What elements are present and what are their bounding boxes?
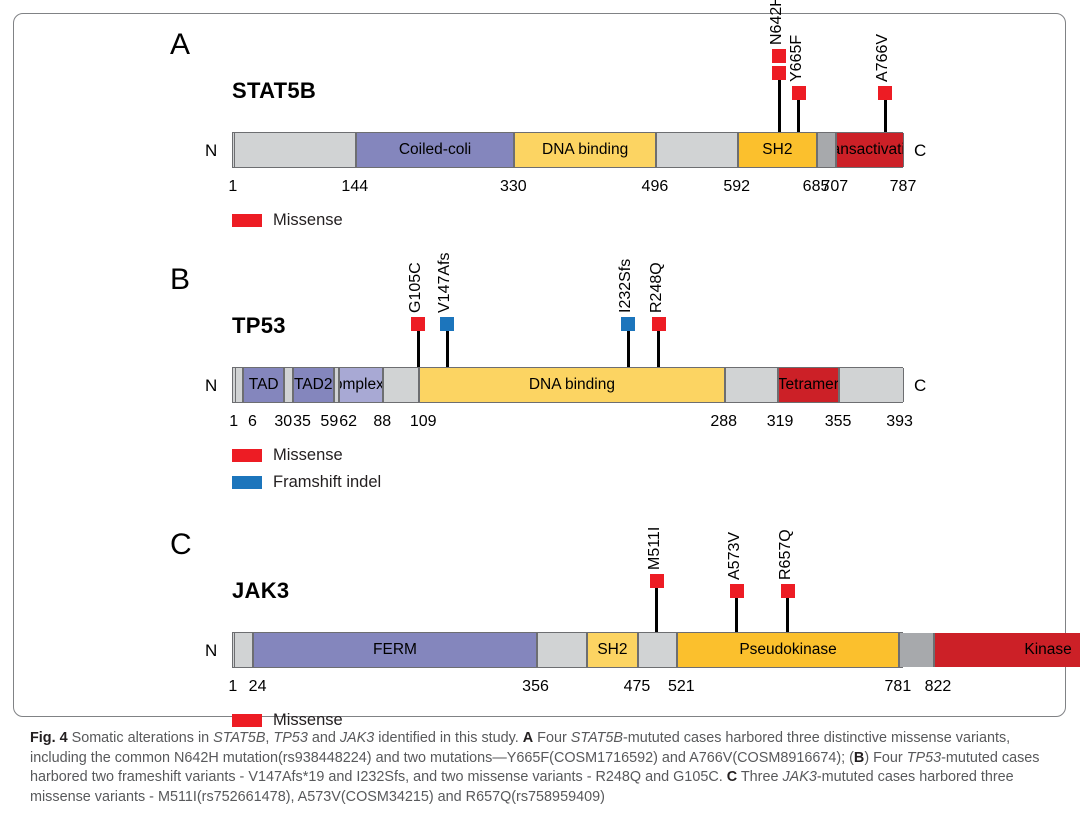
mutation-label: G105C xyxy=(408,262,424,313)
position-tick-label: 356 xyxy=(522,679,549,695)
position-tick-label: 355 xyxy=(825,414,852,430)
domain-block: Tetramer xyxy=(778,368,839,402)
domain-label: TAD2 xyxy=(294,376,332,394)
lollipop-stem xyxy=(627,331,630,367)
domain-label: SH2 xyxy=(597,641,627,659)
mutation-label: V147Afs xyxy=(437,253,453,313)
lollipop-marker xyxy=(772,66,786,80)
position-tick-label: 35 xyxy=(293,414,311,430)
domain-label: Complexity xyxy=(339,376,383,394)
lollipop-stem xyxy=(735,598,738,632)
linker-block xyxy=(839,368,904,402)
position-tick-label: 787 xyxy=(890,179,917,195)
lollipop-marker xyxy=(772,49,786,63)
mutation-label: N642H xyxy=(769,0,785,45)
domain-label: Pseudokinase xyxy=(739,641,836,659)
c-terminus-label: C xyxy=(914,377,926,394)
position-tick-label: 30 xyxy=(274,414,292,430)
lollipop-stem xyxy=(797,100,800,132)
position-tick-label: 62 xyxy=(339,414,357,430)
c-terminus-label: C xyxy=(914,142,926,159)
position-tick-label: 707 xyxy=(821,179,848,195)
panel-letter: B xyxy=(170,265,190,295)
linker-block xyxy=(537,633,587,667)
legend-row: Missense xyxy=(232,712,343,729)
n-terminus-label: N xyxy=(205,377,217,394)
legend-label: Missense xyxy=(273,212,343,229)
caption-a-gene: STAT5B xyxy=(571,730,623,746)
caption-gene-jak3: JAK3 xyxy=(340,730,374,746)
lollipop-stem xyxy=(786,598,789,632)
lollipop-stem xyxy=(417,331,420,367)
mutation-label: I232Sfs xyxy=(618,259,634,313)
n-terminus-label: N xyxy=(205,642,217,659)
lollipop-marker xyxy=(878,86,892,100)
legend-color-swatch xyxy=(232,449,262,462)
position-tick-label: 393 xyxy=(886,414,913,430)
domain-label: SH2 xyxy=(762,141,792,159)
lollipop-stem xyxy=(655,588,658,632)
domain-label: DNA binding xyxy=(542,141,628,159)
mutation-label: Y665F xyxy=(789,35,805,82)
position-tick-label: 59 xyxy=(320,414,338,430)
legend-label: Framshift indel xyxy=(273,474,381,491)
figure-caption: Fig. 4 Somatic alterations in STAT5B, TP… xyxy=(30,729,1052,807)
position-tick-label: 24 xyxy=(249,679,267,695)
domain-block: SH2 xyxy=(587,633,638,667)
linker-block xyxy=(899,633,934,667)
lollipop-marker xyxy=(440,317,454,331)
caption-figure-label: Fig. 4 xyxy=(30,730,68,746)
lollipop-marker xyxy=(650,574,664,588)
linker-block xyxy=(234,133,356,167)
legend-label: Missense xyxy=(273,712,343,729)
n-terminus-label: N xyxy=(205,142,217,159)
linker-block xyxy=(284,368,293,402)
linker-block xyxy=(383,368,419,402)
lollipop-marker xyxy=(730,584,744,598)
domain-block: Coiled-coli xyxy=(356,133,515,167)
position-tick-label: 88 xyxy=(373,414,391,430)
domain-block: Pseudokinase xyxy=(677,633,899,667)
linker-block xyxy=(817,133,836,167)
mutation-label: R248Q xyxy=(649,262,665,313)
lollipop-marker xyxy=(621,317,635,331)
position-tick-label: 592 xyxy=(723,179,750,195)
linker-block xyxy=(725,368,778,402)
domain-label: TAD xyxy=(249,376,279,394)
legend-row: Missense xyxy=(232,212,343,229)
domain-block: TAD2 xyxy=(293,368,334,402)
lollipop-stem xyxy=(657,331,660,367)
linker-block xyxy=(638,633,677,667)
lollipop-stem xyxy=(446,331,449,367)
domain-label: Transactivation xyxy=(836,141,904,159)
position-tick-label: 1 xyxy=(229,414,238,430)
lollipop-marker xyxy=(411,317,425,331)
domain-label: Kinase xyxy=(1024,641,1071,659)
position-tick-label: 822 xyxy=(925,679,952,695)
domain-label: Tetramer xyxy=(778,376,839,394)
legend-color-swatch xyxy=(232,714,262,727)
mutation-label: A766V xyxy=(875,34,891,82)
legend-color-swatch xyxy=(232,214,262,227)
position-tick-label: 288 xyxy=(710,414,737,430)
lollipop-stem xyxy=(778,80,781,132)
position-tick-label: 319 xyxy=(767,414,794,430)
caption-b-gene: TP53 xyxy=(907,750,941,766)
legend-label: Missense xyxy=(273,447,343,464)
position-tick-label: 496 xyxy=(642,179,669,195)
lollipop-stem xyxy=(884,100,887,132)
domain-label: FERM xyxy=(373,641,417,659)
position-tick-label: 521 xyxy=(668,679,695,695)
domain-block: Complexity xyxy=(339,368,383,402)
domain-label: Coiled-coli xyxy=(399,141,471,159)
lollipop-marker xyxy=(792,86,806,100)
position-tick-label: 781 xyxy=(885,679,912,695)
lollipop-marker xyxy=(781,584,795,598)
position-tick-label: 109 xyxy=(410,414,437,430)
domain-block: TAD xyxy=(243,368,284,402)
linker-block xyxy=(656,133,738,167)
legend-row: Framshift indel xyxy=(232,474,381,491)
caption-gene-stat5b: STAT5B xyxy=(213,730,265,746)
panel-letter: A xyxy=(170,30,190,60)
domain-block: Transactivation xyxy=(836,133,904,167)
protein-track: Coiled-coliDNA bindingSH2Transactivation xyxy=(232,132,903,168)
lollipop-marker xyxy=(652,317,666,331)
position-tick-label: 6 xyxy=(248,414,257,430)
domain-block: Kinase xyxy=(934,633,1080,667)
domain-block: FERM xyxy=(253,633,536,667)
domain-block: DNA binding xyxy=(514,133,656,167)
gene-name: STAT5B xyxy=(232,80,316,102)
linker-block xyxy=(234,633,254,667)
position-tick-label: 1 xyxy=(228,679,237,695)
linker-block xyxy=(235,368,244,402)
mutation-label: A573V xyxy=(727,532,743,580)
position-tick-label: 1 xyxy=(228,179,237,195)
mutation-label: M511I xyxy=(647,527,663,570)
caption-panel-b-label: B xyxy=(854,750,864,766)
protein-track: TADTAD2ComplexityDNA bindingTetramer xyxy=(232,367,903,403)
domain-block: SH2 xyxy=(738,133,817,167)
legend-row: Missense xyxy=(232,447,343,464)
panel-letter: C xyxy=(170,530,192,560)
legend-color-swatch xyxy=(232,476,262,489)
protein-track: FERMSH2PseudokinaseKinase xyxy=(232,632,903,668)
caption-gene-tp53: TP53 xyxy=(273,730,307,746)
domain-label: DNA binding xyxy=(529,376,615,394)
position-tick-label: 330 xyxy=(500,179,527,195)
mutation-label: R657Q xyxy=(778,529,794,580)
caption-panel-c-label: C xyxy=(727,769,737,785)
gene-name: TP53 xyxy=(232,315,286,337)
gene-name: JAK3 xyxy=(232,580,289,602)
figure-border xyxy=(13,13,1066,717)
caption-c-gene: JAK3 xyxy=(782,769,816,785)
position-tick-label: 475 xyxy=(624,679,651,695)
caption-panel-a-label: A xyxy=(523,730,533,746)
position-tick-label: 144 xyxy=(341,179,368,195)
domain-block: DNA binding xyxy=(419,368,725,402)
